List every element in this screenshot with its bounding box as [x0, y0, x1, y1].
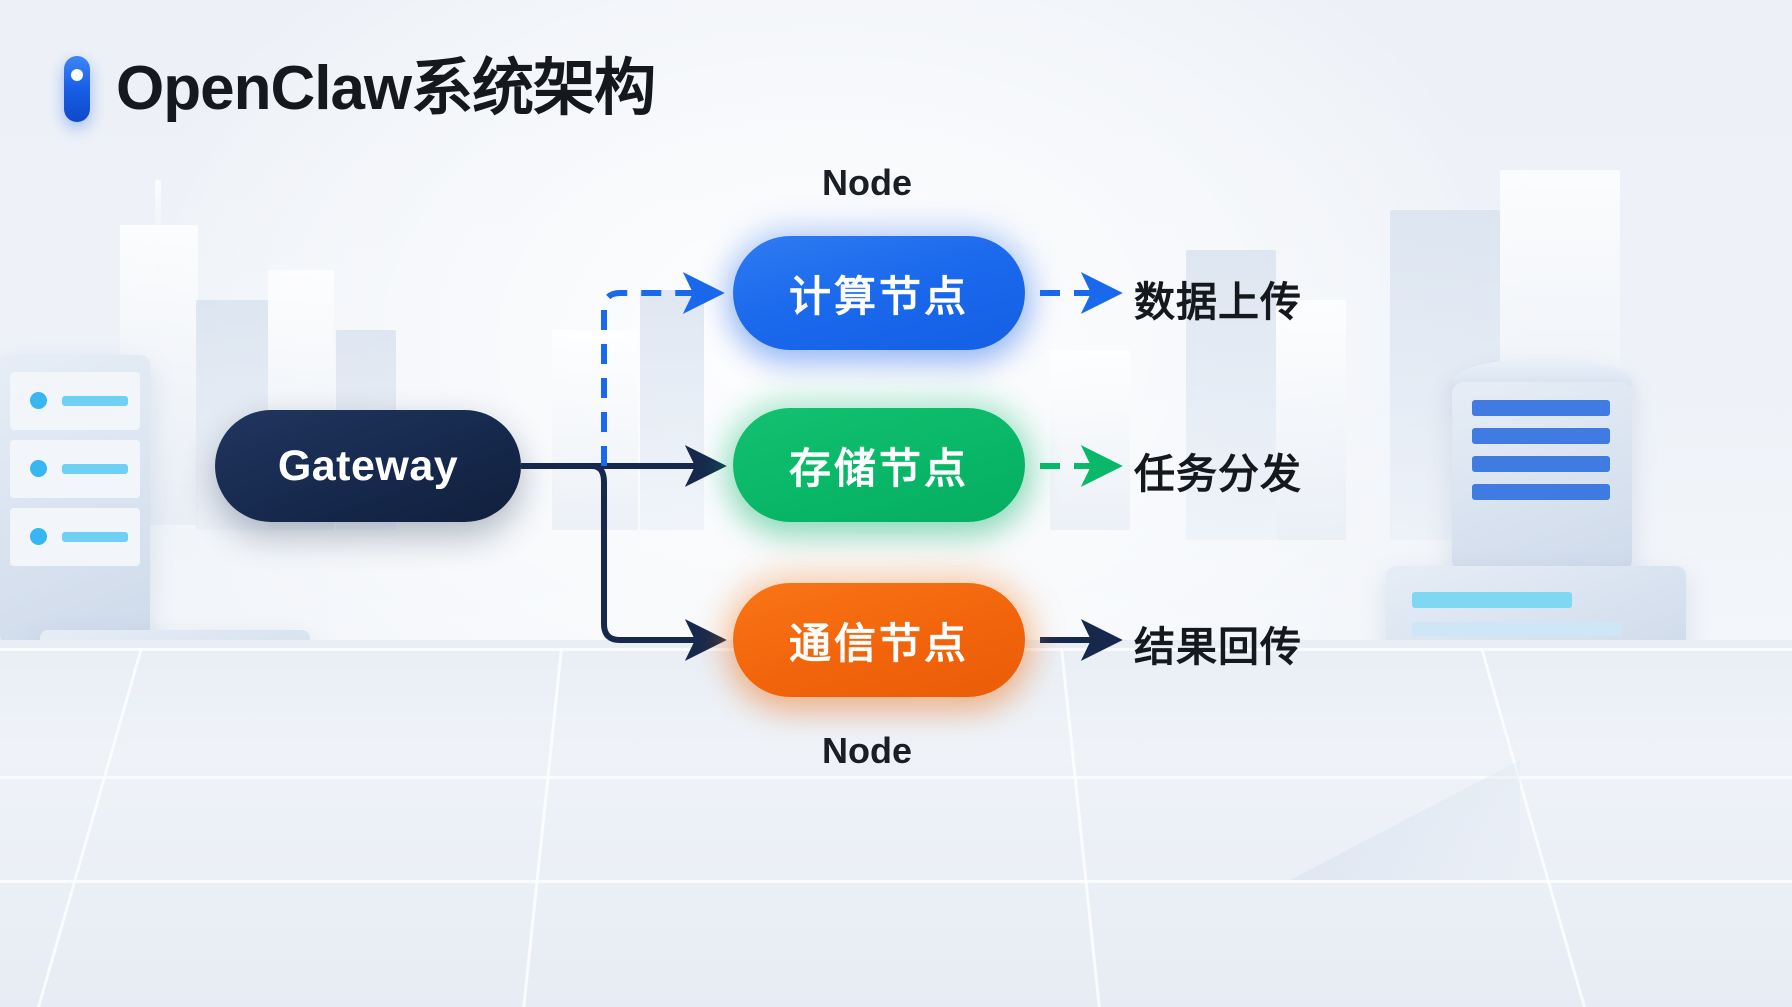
- edge-label-task-dispatch: 任务分发: [1134, 440, 1302, 500]
- node-storage-label: 存储节点: [789, 435, 969, 496]
- node-storage[interactable]: 存储节点: [733, 408, 1025, 522]
- node-layer: Node Gateway 计算节点 存储节点 通信节点 数据上传 任务分发 结果…: [0, 0, 1792, 1007]
- node-gateway[interactable]: Gateway: [215, 410, 521, 522]
- edge-label-data-upload: 数据上传: [1134, 268, 1302, 328]
- node-compute-label: 计算节点: [789, 263, 969, 324]
- node-comm[interactable]: 通信节点: [733, 583, 1025, 697]
- diagram-canvas: OpenClaw系统架构 Node Gatew: [0, 0, 1792, 1007]
- group-label-top: Node: [822, 162, 912, 204]
- node-comm-label: 通信节点: [789, 610, 969, 671]
- node-compute[interactable]: 计算节点: [733, 236, 1025, 350]
- group-label-bottom: Node: [822, 730, 912, 772]
- edge-label-result-return: 结果回传: [1134, 613, 1302, 673]
- node-gateway-label: Gateway: [278, 442, 458, 491]
